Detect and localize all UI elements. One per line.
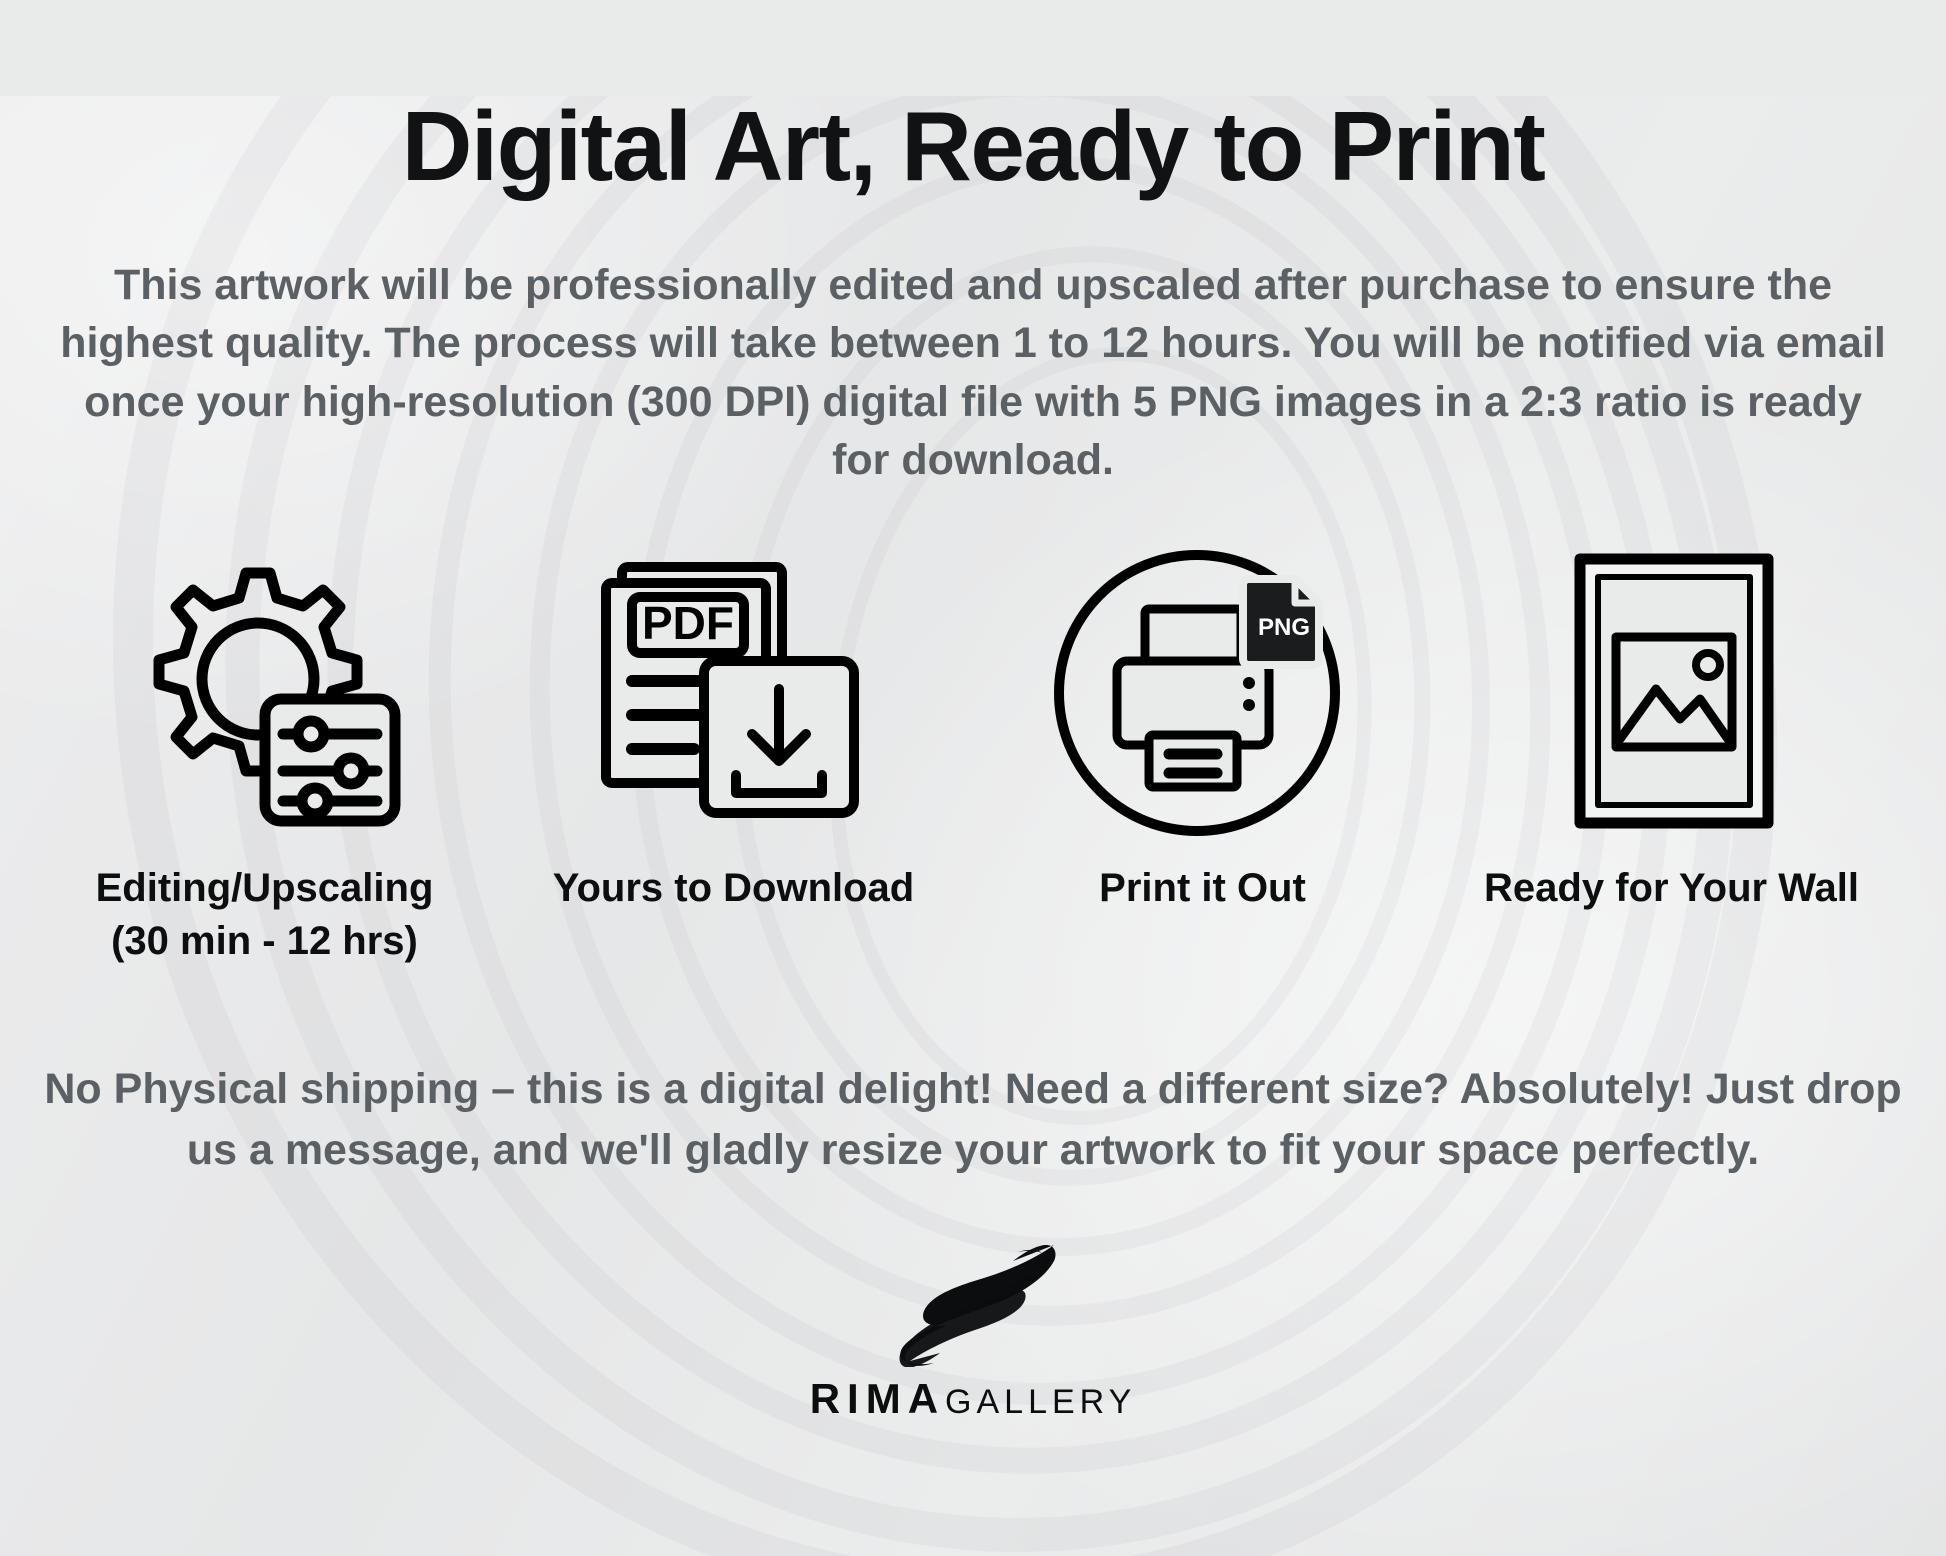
closing-paragraph: No Physical shipping – this is a digital… (33, 1059, 1913, 1181)
brand-name-secondary: GALLERY (945, 1383, 1136, 1422)
pdf-download-icon: PDF (584, 544, 884, 844)
brand-name-primary: RIMA (810, 1375, 945, 1423)
feature-item-editing: Editing/Upscaling (30 min - 12 hrs) (30, 544, 499, 968)
printer-circle-icon: PNG (1053, 544, 1353, 844)
feature-row: Editing/Upscaling (30 min - 12 hrs) PDF (0, 544, 1946, 968)
pdf-badge-label: PDF (642, 597, 734, 649)
intro-paragraph: This artwork will be professionally edit… (58, 256, 1888, 490)
brand-logo: RIMA GALLERY (0, 1241, 1946, 1423)
framed-picture-icon (1522, 544, 1822, 844)
promo-page: Digital Art, Ready to Print This artwork… (0, 96, 1946, 1556)
page-title: Digital Art, Ready to Print (0, 96, 1946, 198)
feature-caption: Print it Out (1099, 862, 1306, 915)
feature-item-wall: Ready for Your Wall (1437, 544, 1906, 915)
feature-item-download: PDF Yours to Download (499, 544, 968, 915)
feature-caption: Editing/Upscaling (30 min - 12 hrs) (96, 862, 434, 968)
feature-caption: Yours to Download (553, 862, 914, 915)
feature-item-print: PNG Print it Out (968, 544, 1437, 915)
gear-sliders-icon (115, 544, 415, 844)
png-badge-label: PNG (1257, 614, 1309, 641)
rima-swoosh-logo-icon (858, 1241, 1088, 1367)
brand-wordmark: RIMA GALLERY (810, 1375, 1137, 1423)
feature-caption: Ready for Your Wall (1484, 862, 1859, 915)
